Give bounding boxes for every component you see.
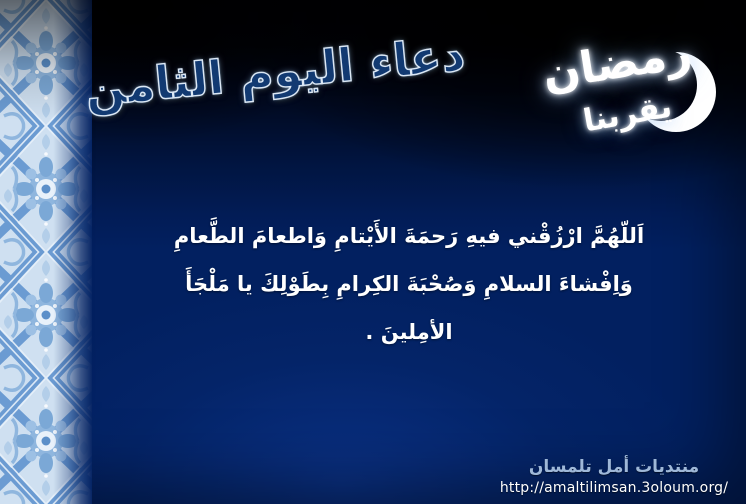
dua-line-2: وَاِفْشاءَ السلامِ وَصُحْبَةَ الكِرامِ ب…	[96, 260, 722, 308]
ramadan-calligraphy-block: رمضان يقربنا	[490, 18, 730, 168]
dua-text: اَللّهُمَّ ارْزُقْني فيهِ رَحمَةَ الأَيْ…	[96, 212, 722, 356]
footer: منتديات أمل تلمسان http://amaltilimsan.3…	[496, 456, 732, 498]
dua-line-1: اَللّهُمَّ ارْزُقْني فيهِ رَحمَةَ الأَيْ…	[96, 212, 722, 260]
forum-name: منتديات أمل تلمسان	[496, 456, 732, 478]
forum-url[interactable]: http://amaltilimsan.3oloum.org/	[496, 478, 732, 498]
dua-line-3: الأمِلينَ .	[96, 308, 722, 356]
ramadan-dua-card: دعاء اليوم الثامن	[0, 0, 746, 504]
